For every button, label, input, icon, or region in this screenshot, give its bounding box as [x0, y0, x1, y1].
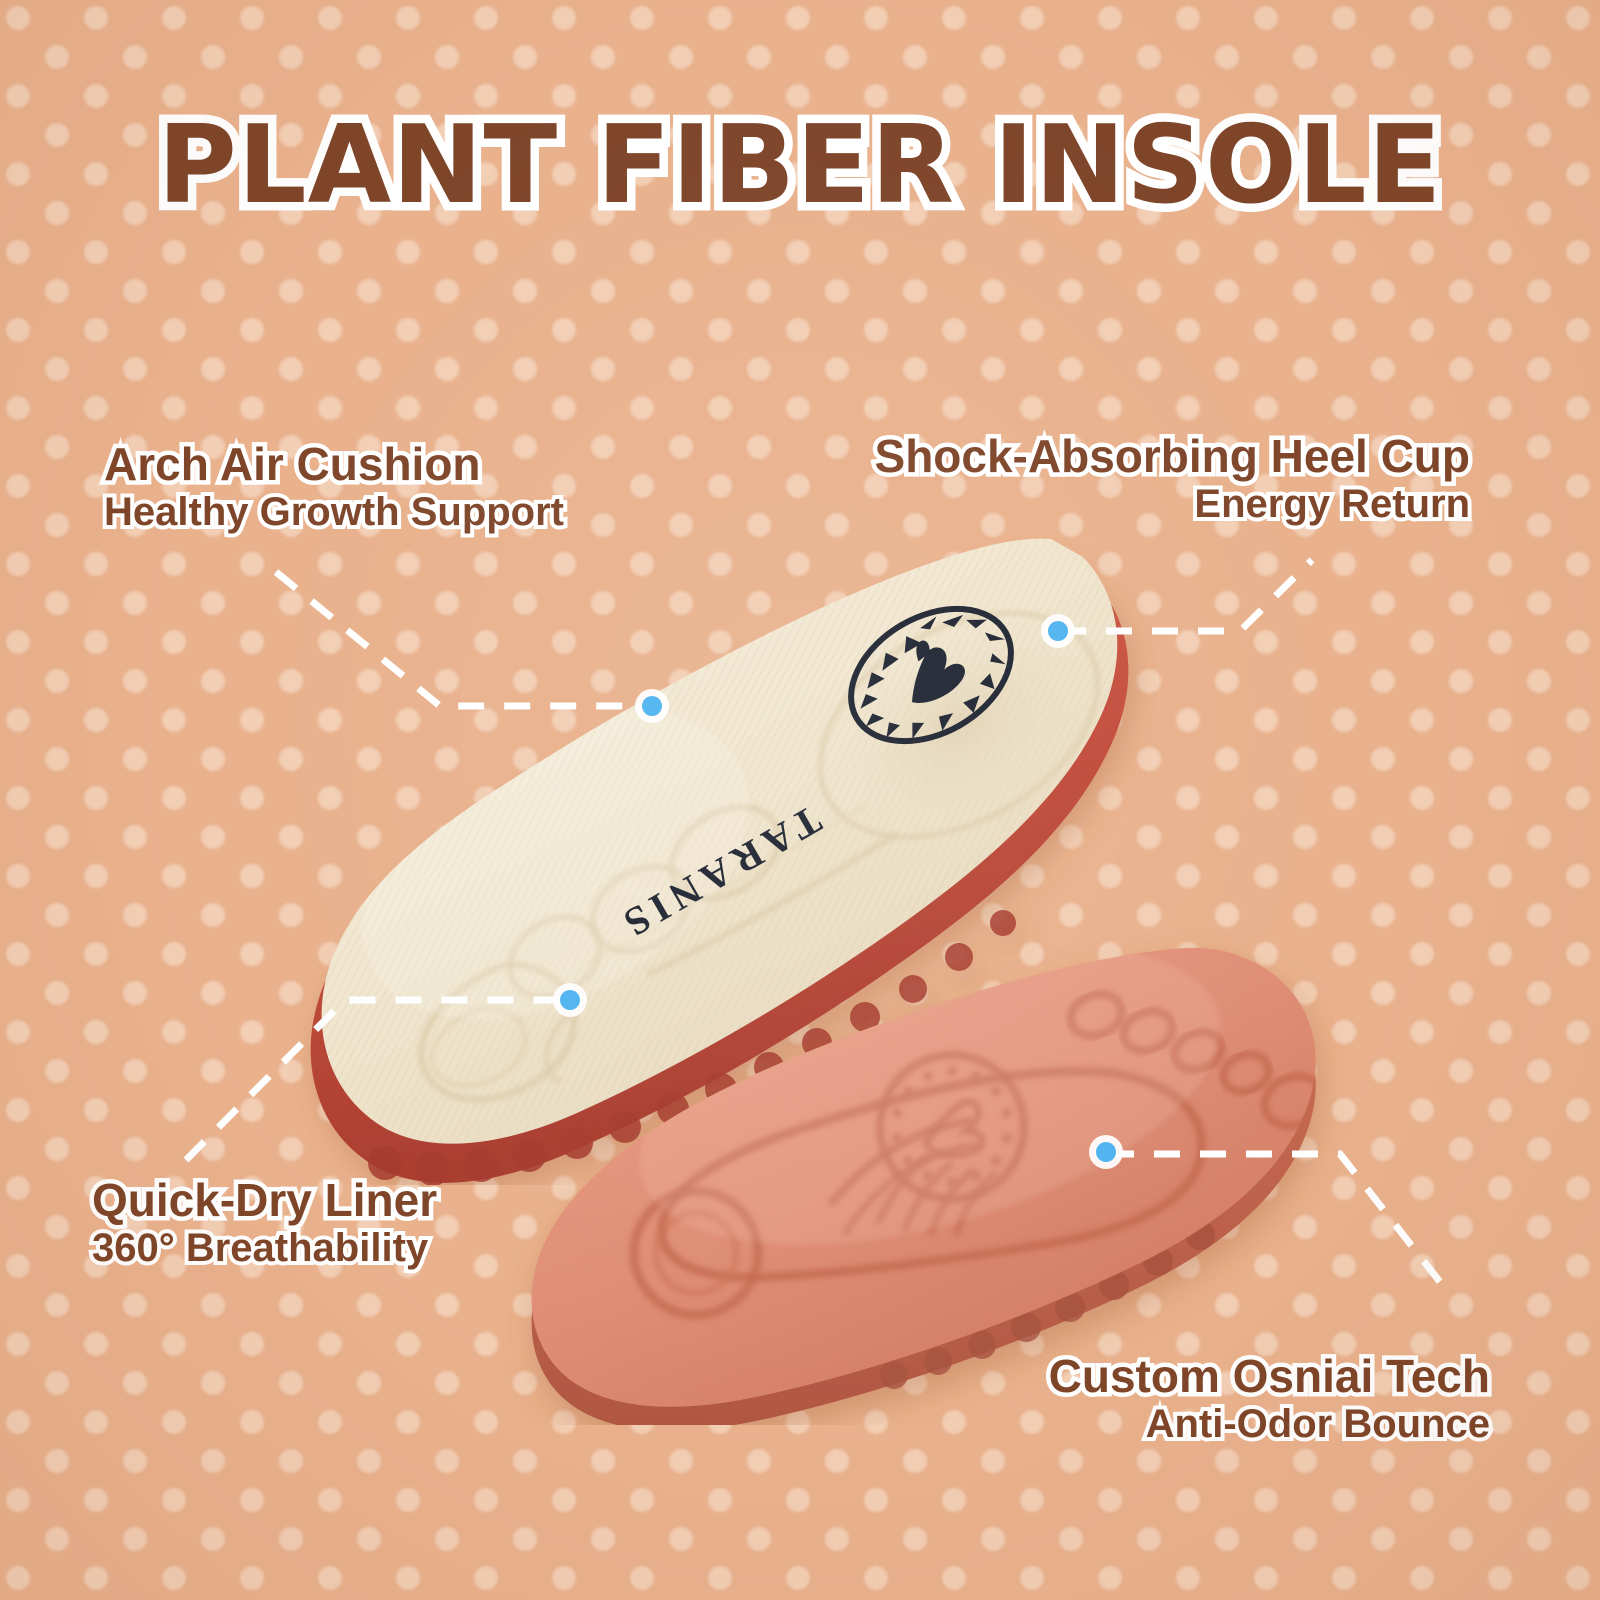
callout-subtext: 360° Breathability [92, 1226, 437, 1271]
page-title: PLANT FIBER INSOLE [0, 112, 1600, 220]
callout-arch-air-cushion: Arch Air Cushion Healthy Growth Support [104, 440, 564, 535]
bottom-insole-image [500, 905, 1400, 1425]
callout-subtext: Anti-Odor Bounce [860, 1402, 1490, 1447]
callout-subtext: Healthy Growth Support [104, 490, 564, 535]
callout-heading: Quick-Dry Liner [92, 1176, 437, 1224]
callout-subtext: Energy Return [740, 482, 1470, 527]
callout-heading: Arch Air Cushion [104, 440, 564, 488]
callout-custom-osniai-tech: Custom Osniai Tech Anti-Odor Bounce [860, 1352, 1490, 1447]
callout-shock-absorbing-heel-cup: Shock-Absorbing Heel Cup Energy Return [740, 432, 1470, 527]
callout-quick-dry-liner: Quick-Dry Liner 360° Breathability [92, 1176, 437, 1271]
callout-heading: Shock-Absorbing Heel Cup [740, 432, 1470, 480]
callout-heading: Custom Osniai Tech [860, 1352, 1490, 1400]
infographic-canvas: TARANIS [0, 0, 1600, 1600]
